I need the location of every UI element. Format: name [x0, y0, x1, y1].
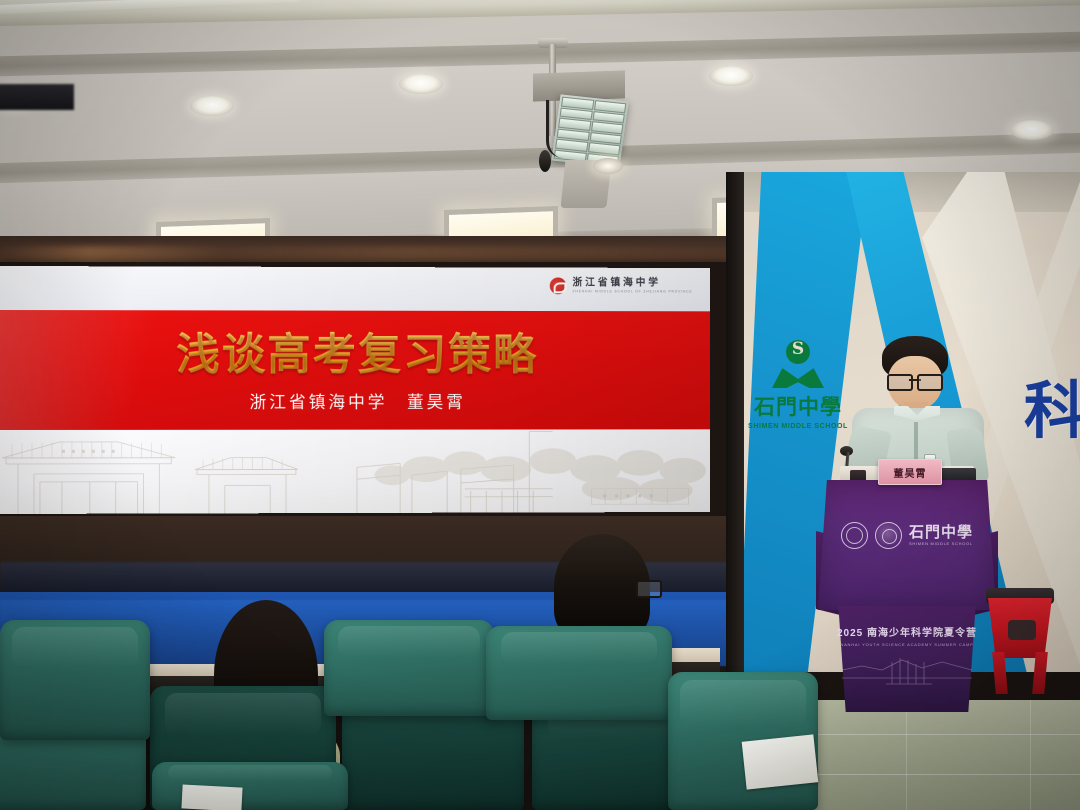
- downlight-icon: [190, 96, 234, 116]
- eyeglasses-icon: [887, 374, 943, 387]
- stage-shadow: [0, 84, 74, 110]
- school-name-cn: 石門中學: [740, 391, 856, 421]
- globe-emblem-icon: [875, 522, 902, 549]
- handout-paper: [742, 734, 819, 789]
- podium-skyline-graphic: [842, 650, 972, 690]
- audience-seat[interactable]: [324, 620, 494, 716]
- campus-gate-illustration: [0, 429, 710, 514]
- stool-body: [988, 598, 1052, 658]
- red-plastic-stool: [986, 588, 1054, 708]
- shimen-mountain-logo-icon: [772, 340, 824, 388]
- brand-name-cn: 浙江省镇海中学: [573, 278, 693, 288]
- fluorescent-tube-light: [0, 0, 300, 14]
- lectern-logo-lockup: 石門中學 SHIMEN MIDDLE SCHOOL: [818, 522, 996, 549]
- audience-seat[interactable]: [486, 626, 672, 720]
- handout-paper: [181, 784, 242, 810]
- school-name-en: SHIMEN MIDDLE SCHOOL: [740, 423, 856, 430]
- lectern: 石門中學 SHIMEN MIDDLE SCHOOL 2025 南海少年科学院夏令…: [818, 474, 996, 720]
- stool-leg: [992, 652, 1008, 694]
- downlight-icon: [1010, 120, 1054, 140]
- school-logo-block: 石門中學 SHIMEN MIDDLE SCHOOL: [740, 340, 856, 430]
- slide-header-band: 浙江省镇海中学 ZHENHAI MIDDLE SCHOOL OF ZHEJIAN…: [0, 266, 710, 311]
- brand-name-en: ZHENHAI MIDDLE SCHOOL OF ZHEJIANG PROVIN…: [573, 290, 693, 294]
- nameplate-text: 董昊霄: [894, 465, 927, 480]
- slide-footer-area: [0, 429, 710, 514]
- presentation-slide: 浙江省镇海中学 ZHENHAI MIDDLE SCHOOL OF ZHEJIAN…: [0, 266, 710, 514]
- lectern-front-panel: 石門中學 SHIMEN MIDDLE SCHOOL: [818, 480, 996, 610]
- stool-leg: [1032, 652, 1048, 694]
- lectern-school-en: SHIMEN MIDDLE SCHOOL: [909, 542, 973, 546]
- wall-character: 科: [1024, 360, 1080, 450]
- school-brand-lockup: 浙江省镇海中学 ZHENHAI MIDDLE SCHOOL OF ZHEJIAN…: [550, 277, 692, 294]
- zhenhai-emblem-icon: [550, 277, 567, 294]
- slide-subtitle: 浙江省镇海中学 董昊霄: [0, 388, 710, 413]
- lectern-school-cn: 石門中學: [909, 525, 973, 540]
- spotlight-icon: [593, 158, 623, 174]
- stool-handle-hole: [1008, 620, 1036, 640]
- event-subtitle: NANHAI YOUTH SCIENCE ACADEMY SUMMER CAMP: [818, 642, 996, 647]
- projection-screen-frame: 浙江省镇海中学 ZHENHAI MIDDLE SCHOOL OF ZHEJIAN…: [0, 262, 730, 518]
- ceiling-soffit-strip: [0, 0, 1080, 26]
- event-banner-text: 2025 南海少年科学院夏令营 NANHAI YOUTH SCIENCE ACA…: [818, 624, 996, 647]
- hanging-microphone-icon: [539, 150, 551, 172]
- audience-seat[interactable]: [0, 620, 150, 740]
- speaker-nameplate: 董昊霄: [878, 459, 942, 485]
- school-seal-icon: [841, 522, 868, 549]
- rig-cable: [546, 100, 563, 158]
- auditorium-photo: 浙江省镇海中学 ZHENHAI MIDDLE SCHOOL OF ZHEJIAN…: [0, 0, 1080, 810]
- downlight-icon: [709, 66, 753, 86]
- slide-title: 浅谈高考复习策略: [0, 318, 710, 382]
- attendee-eyeglasses-icon: [636, 580, 662, 598]
- event-title: 2025 南海少年科学院夏令营: [818, 624, 996, 639]
- downlight-icon: [399, 74, 443, 94]
